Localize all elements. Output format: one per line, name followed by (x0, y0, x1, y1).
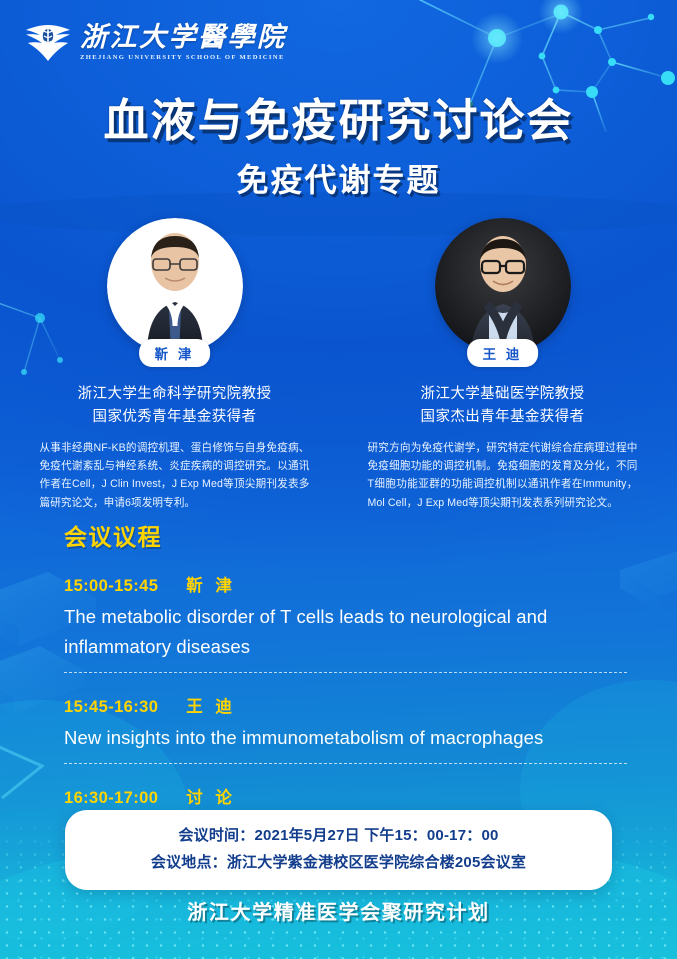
speaker-photo-jin-jin (107, 218, 243, 354)
speaker-honor: 国家杰出青年基金获得者 (367, 406, 639, 429)
chevron-left (0, 742, 42, 798)
agenda-slot-topic: New insights into the immunometabolism o… (64, 723, 627, 753)
node-glow (539, 0, 583, 34)
meeting-time: 会议时间：2021年5月27日 下午15：00-17：00 (75, 823, 602, 850)
agenda-slot: 15:45-16:30 王 迪 New insights into the im… (64, 693, 627, 764)
speaker-affiliation: 浙江大学基础医学院教授 (367, 383, 639, 406)
agenda-slot-meta: 15:45-16:30 王 迪 (64, 693, 627, 717)
agenda-divider (64, 763, 627, 764)
speaker-bio: 研究方向为免疫代谢学，研究特定代谢综合症病理过程中免疫细胞功能的调控机制。免疫细… (367, 439, 639, 512)
title-block: 血液与免疫研究讨论会 免疫代谢专题 (0, 96, 677, 201)
molecule-nodes-top-right (467, 5, 675, 108)
brand-name-en: ZHEJIANG UNIVERSITY SCHOOL OF MEDICINE (80, 54, 287, 61)
agenda-divider (64, 672, 627, 673)
agenda-slot-speaker: 讨 论 (186, 784, 236, 808)
agenda-slot-topic: The metabolic disorder of T cells leads … (64, 602, 627, 662)
speaker-titles: 浙江大学生命科学研究院教授 国家优秀青年基金获得者 (39, 383, 311, 430)
node-glow (471, 12, 523, 64)
speaker-name-badge: 靳 津 (139, 339, 211, 367)
footer-section: 浙江大学精准医学会聚研究计划 (0, 896, 677, 925)
agenda-slot-meta: 15:00-15:45 靳 津 (64, 572, 627, 596)
agenda-slot-time: 15:45-16:30 (64, 698, 158, 717)
agenda-heading: 会议议程 (64, 518, 627, 552)
speaker-photo-wrap: 靳 津 (107, 218, 243, 354)
speaker-photo-wang-di (435, 218, 571, 354)
agenda-slot: 16:30-17:00 讨 论 (64, 784, 627, 808)
speaker-bio: 从事非经典NF-KB的调控机理、蛋白修饰与自身免疫病、免疫代谢紊乱与神经系统、炎… (39, 439, 311, 512)
portrait-illustration (435, 218, 571, 354)
speaker-honor: 国家优秀青年基金获得者 (39, 406, 311, 429)
footer-program-name: 浙江大学精准医学会聚研究计划 (0, 896, 677, 925)
iso-blocks-right (620, 544, 677, 612)
poster-root: 浙江大学醫學院 ZHEJIANG UNIVERSITY SCHOOL OF ME… (0, 0, 677, 959)
agenda-slot-speaker: 王 迪 (186, 693, 236, 717)
agenda-slot-time: 15:00-15:45 (64, 577, 158, 596)
agenda-slot-time: 16:30-17:00 (64, 789, 158, 808)
speaker-photo-wrap: 王 迪 (435, 218, 571, 354)
meeting-info-card: 会议时间：2021年5月27日 下午15：00-17：00 会议地点：浙江大学紫… (65, 810, 612, 890)
speaker-name-badge: 王 迪 (467, 339, 539, 367)
speaker-affiliation: 浙江大学生命科学研究院教授 (39, 383, 311, 406)
agenda-section: 会议议程 15:00-15:45 靳 津 The metabolic disor… (64, 518, 627, 808)
speaker-card: 王 迪 浙江大学基础医学院教授 国家杰出青年基金获得者 研究方向为免疫代谢学，研… (367, 218, 639, 512)
brand-logo: 浙江大学醫學院 ZHEJIANG UNIVERSITY SCHOOL OF ME… (25, 22, 287, 62)
brand-name-cn: 浙江大学醫學院 (80, 23, 287, 51)
agenda-slot: 15:00-15:45 靳 津 The metabolic disorder o… (64, 572, 627, 673)
speaker-titles: 浙江大学基础医学院教授 国家杰出青年基金获得者 (367, 383, 639, 430)
portrait-illustration (107, 218, 243, 354)
poster-subtitle: 免疫代谢专题 (0, 155, 677, 201)
speaker-card: 靳 津 浙江大学生命科学研究院教授 国家优秀青年基金获得者 从事非经典NF-KB… (39, 218, 311, 512)
agenda-slot-meta: 16:30-17:00 讨 论 (64, 784, 627, 808)
brand-logo-text: 浙江大学醫學院 ZHEJIANG UNIVERSITY SCHOOL OF ME… (80, 23, 287, 61)
caduceus-wings-icon (25, 22, 71, 62)
agenda-slot-speaker: 靳 津 (186, 572, 236, 596)
poster-title: 血液与免疫研究讨论会 (0, 96, 677, 146)
meeting-place: 会议地点：浙江大学紫金港校区医学院综合楼205会议室 (75, 850, 602, 877)
speakers-section: 靳 津 浙江大学生命科学研究院教授 国家优秀青年基金获得者 从事非经典NF-KB… (0, 218, 677, 512)
